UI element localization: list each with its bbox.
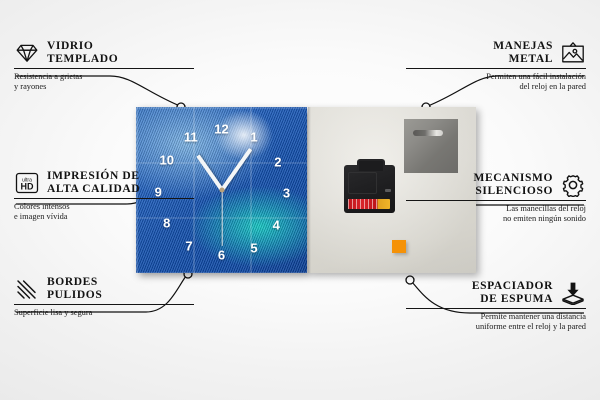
feature-header: ultra HD IMPRESIÓN DE ALTA CALIDAD xyxy=(14,170,194,195)
feature-description: Permite mantener una distancia uniforme … xyxy=(406,312,586,333)
battery-label-stripes xyxy=(348,199,378,209)
feature-divider xyxy=(14,198,194,199)
mechanism-hook xyxy=(357,159,385,171)
feature-bordes-pulidos: BORDES PULIDOS Superficie lisa y segura xyxy=(14,276,194,318)
feature-description: Las manecillas del reloj no emiten ningú… xyxy=(406,204,586,225)
feature-title: BORDES PULIDOS xyxy=(47,276,102,301)
feature-divider xyxy=(14,304,194,305)
clock-numeral-3: 3 xyxy=(283,187,290,200)
feature-vidrio-templado: VIDRIO TEMPLADO Resistencia a grietas y … xyxy=(14,40,194,93)
foam-spacer-square xyxy=(392,240,406,253)
mechanism-label xyxy=(385,189,391,192)
clock-numeral-12: 12 xyxy=(214,122,228,135)
svg-text:HD: HD xyxy=(21,181,34,191)
feature-divider xyxy=(406,68,586,69)
feature-mecanismo-silencioso: MECANISMO SILENCIOSO Las manecillas del … xyxy=(406,172,586,225)
mechanism-panel xyxy=(348,172,377,194)
feature-header: MECANISMO SILENCIOSO xyxy=(406,172,586,197)
metal-hanger-plate xyxy=(404,119,458,173)
ultra-hd-icon: ultra HD xyxy=(14,171,40,195)
feature-header: ESPACIADOR DE ESPUMA xyxy=(406,280,586,305)
clock-numeral-11: 11 xyxy=(184,130,198,143)
feature-header: VIDRIO TEMPLADO xyxy=(14,40,194,65)
feature-title: MANEJAS METAL xyxy=(493,40,553,65)
feature-description: Superficie lisa y segura xyxy=(14,308,194,318)
feature-title: IMPRESIÓN DE ALTA CALIDAD xyxy=(47,170,140,195)
clock-numeral-5: 5 xyxy=(250,242,257,255)
clock-mechanism-box xyxy=(344,165,395,213)
clock-center-pin xyxy=(219,188,224,193)
diamond-icon xyxy=(14,41,40,65)
clock-numeral-10: 10 xyxy=(160,154,174,167)
feature-divider xyxy=(406,200,586,201)
hanger-keyhole-slot xyxy=(413,130,443,136)
gear-icon xyxy=(560,173,586,197)
feature-divider xyxy=(14,68,194,69)
clock-numeral-2: 2 xyxy=(274,155,281,168)
feature-manejas-metal: MANEJAS METAL Permiten una fácil instala… xyxy=(406,40,586,93)
feature-header: MANEJAS METAL xyxy=(406,40,586,65)
feature-espaciador-espuma: ESPACIADOR DE ESPUMA Permite mantener un… xyxy=(406,280,586,333)
feature-title: MECANISMO SILENCIOSO xyxy=(473,172,553,197)
infographic-canvas: 12 1 2 3 4 5 6 7 8 9 10 11 xyxy=(0,0,600,400)
feature-impresion-alta-calidad: ultra HD IMPRESIÓN DE ALTA CALIDAD Color… xyxy=(14,170,194,223)
clock-numeral-7: 7 xyxy=(185,240,192,253)
feature-description: Resistencia a grietas y rayones xyxy=(14,72,194,93)
picture-frame-icon xyxy=(560,41,586,65)
feature-divider xyxy=(406,308,586,309)
clock-second-hand xyxy=(221,190,222,246)
feature-description: Colores intensos e imagen vívida xyxy=(14,202,194,223)
clock-numeral-1: 1 xyxy=(250,130,257,143)
clock-numeral-6: 6 xyxy=(218,248,225,261)
feature-description: Permiten una fácil instalación del reloj… xyxy=(406,72,586,93)
clock-numeral-4: 4 xyxy=(273,218,280,231)
feature-title: ESPACIADOR DE ESPUMA xyxy=(472,280,553,305)
foam-spacer-icon xyxy=(560,281,586,305)
feature-title: VIDRIO TEMPLADO xyxy=(47,40,118,65)
feature-header: BORDES PULIDOS xyxy=(14,276,194,301)
polished-edges-icon xyxy=(14,277,40,301)
